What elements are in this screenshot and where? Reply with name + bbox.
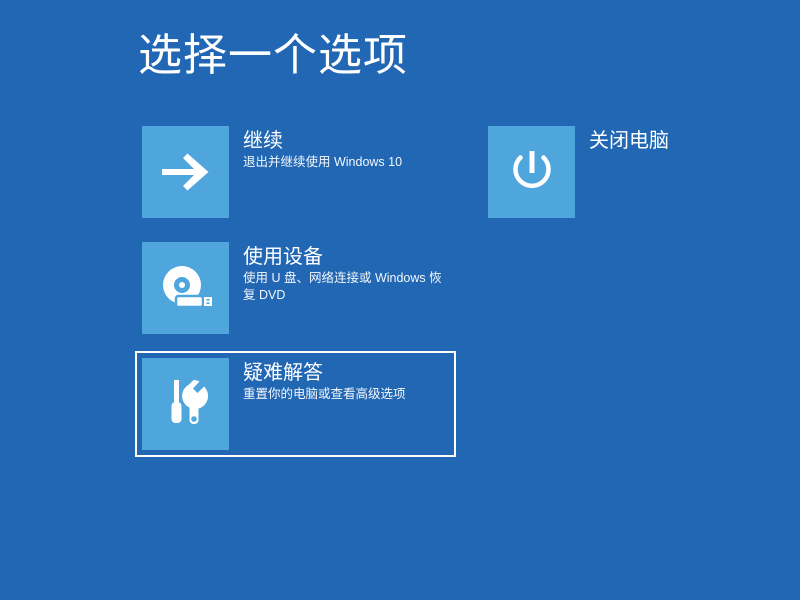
arrow-right-icon [160,152,212,192]
option-text: 关闭电脑 [589,126,669,154]
options-column-right: 关闭电脑 [481,119,791,235]
option-title: 关闭电脑 [589,128,669,154]
option-turn-off-your-pc[interactable]: 关闭电脑 [481,119,781,225]
choose-an-option-screen: 选择一个选项 继续 退出并继续使用 Windows 10 [0,0,800,600]
option-description: 使用 U 盘、网络连接或 Windows 恢复 DVD [243,270,443,304]
option-title: 使用设备 [243,244,443,270]
option-continue[interactable]: 继续 退出并继续使用 Windows 10 [135,119,456,225]
option-text: 疑难解答 重置你的电脑或查看高级选项 [243,358,406,403]
options-column-left: 继续 退出并继续使用 Windows 10 使用设备 使用 U 盘、网络连 [135,119,465,467]
option-description: 重置你的电脑或查看高级选项 [243,386,406,403]
option-description: 退出并继续使用 Windows 10 [243,154,402,171]
disc-usb-device-icon [157,263,215,313]
power-icon [508,147,556,197]
option-tile [142,126,229,218]
option-tile [142,242,229,334]
option-title: 疑难解答 [243,360,406,386]
option-text: 使用设备 使用 U 盘、网络连接或 Windows 恢复 DVD [243,242,443,304]
option-tile [488,126,575,218]
option-text: 继续 退出并继续使用 Windows 10 [243,126,402,171]
option-title: 继续 [243,128,402,154]
page-title: 选择一个选项 [138,28,408,84]
option-troubleshoot[interactable]: 疑难解答 重置你的电脑或查看高级选项 [135,351,456,457]
option-tile [142,358,229,450]
option-use-a-device[interactable]: 使用设备 使用 U 盘、网络连接或 Windows 恢复 DVD [135,235,456,341]
screwdriver-wrench-icon [163,378,209,430]
